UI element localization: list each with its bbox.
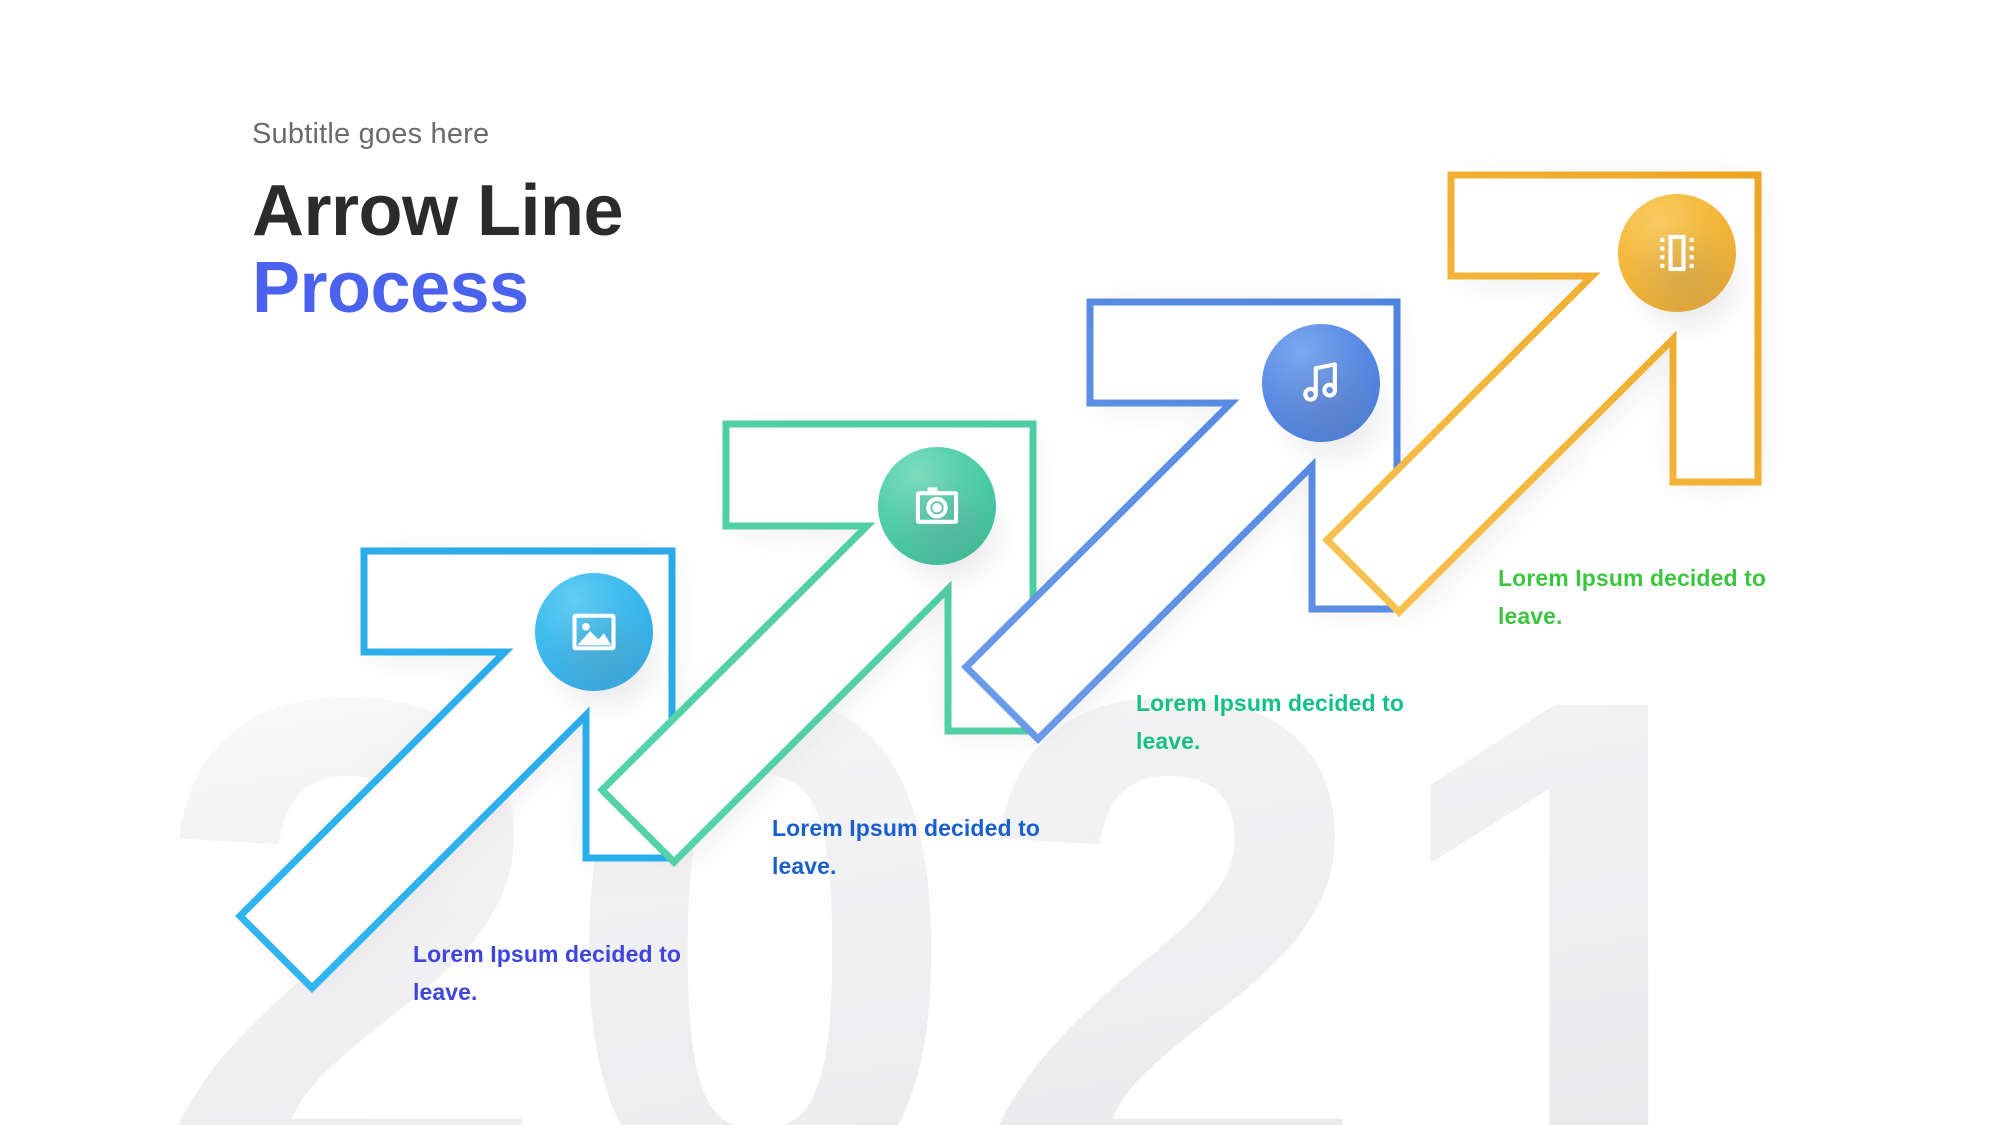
step-3-caption: Lorem Ipsum decided to leave. — [1136, 685, 1446, 761]
step-2-caption: Lorem Ipsum decided to leave. — [772, 810, 1082, 886]
step-1-caption: Lorem Ipsum decided to leave. — [413, 936, 723, 1012]
step-4-caption: Lorem Ipsum decided to leave. — [1498, 560, 1808, 636]
page-subtitle: Subtitle goes here — [252, 118, 623, 151]
camera-icon — [911, 480, 963, 532]
step-3-icon-badge[interactable] — [1262, 324, 1380, 442]
music-note-icon — [1295, 357, 1347, 409]
film-strip-icon — [1651, 227, 1703, 279]
image-icon — [568, 606, 620, 658]
page-title-line-1: Arrow Line — [252, 173, 623, 250]
headings-block: Subtitle goes here Arrow Line Process — [252, 118, 623, 327]
slide-canvas: 2021 — [0, 0, 2000, 1125]
step-4-icon-badge[interactable] — [1618, 194, 1736, 312]
step-1-icon-badge[interactable] — [535, 573, 653, 691]
page-title-line-2: Process — [252, 250, 623, 327]
step-2-icon-badge[interactable] — [878, 447, 996, 565]
